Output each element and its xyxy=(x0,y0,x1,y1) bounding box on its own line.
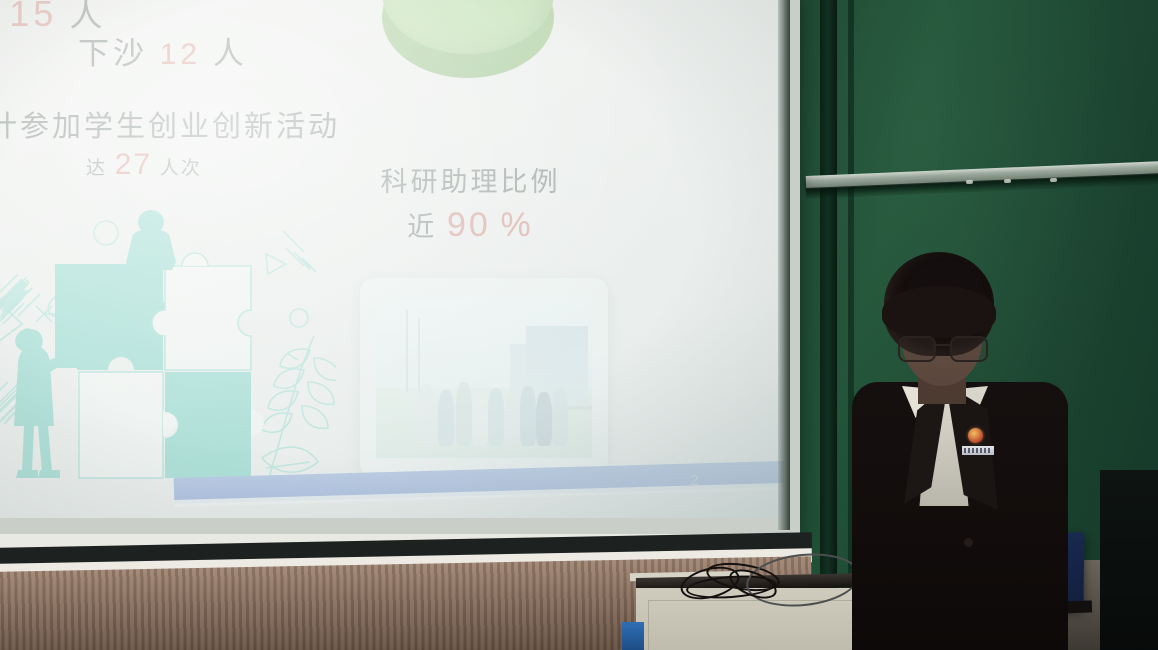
slide-line-3: 累计参加学生创业创新活动 xyxy=(0,103,340,145)
photo-person xyxy=(418,384,435,446)
pie-caption-percent: 90 xyxy=(447,206,491,244)
blue-object-on-shelf xyxy=(622,622,644,650)
chalk-piece xyxy=(966,180,973,184)
photo-card xyxy=(360,278,608,478)
photo-person xyxy=(438,390,454,446)
name-tag xyxy=(962,446,994,455)
slide-page-number: 2 xyxy=(690,472,698,489)
pie-caption-prefix: 近 xyxy=(407,212,437,242)
foreground-dark-edge xyxy=(1100,470,1158,650)
pie-caption-value-line: 近 90 % xyxy=(338,205,603,245)
photo-person xyxy=(488,388,504,446)
glasses-lens-right xyxy=(950,336,988,362)
slide-line-1-number: 15 xyxy=(9,0,57,34)
chalk-piece xyxy=(1004,179,1011,183)
screen-right-edge xyxy=(778,0,790,530)
pie-chart-caption: 科研助理比例 近 90 % xyxy=(338,160,603,245)
cable-bundle xyxy=(676,564,866,608)
group-photo xyxy=(376,300,592,458)
glasses-bridge xyxy=(932,344,950,346)
pie-caption-percent-unit: % xyxy=(501,206,534,244)
hair-fringe xyxy=(882,286,996,338)
projection-screen-frame: 前 15 人 下沙 12 人 累计参加学生创业创新活动 达 27 人次 xyxy=(0,0,800,540)
slide-line-2: 下沙 12 人 xyxy=(78,28,248,73)
slide-line-4-unit: 人次 xyxy=(160,158,202,179)
slide-line-2-unit: 人 xyxy=(213,36,248,71)
slide-line-4-prefix: 达 xyxy=(86,158,107,179)
presenter xyxy=(846,252,1076,650)
slide-line-2-prefix: 下沙 xyxy=(78,36,148,71)
glasses-icon xyxy=(898,336,990,358)
photo-person xyxy=(504,396,520,446)
pie-chart xyxy=(374,0,562,130)
puzzle-illustration xyxy=(0,206,336,496)
slide-line-4-number: 27 xyxy=(115,148,152,181)
photo-pole xyxy=(418,318,420,392)
photo-person xyxy=(472,394,488,446)
photo-person xyxy=(520,386,536,446)
slide-line-2-number: 12 xyxy=(160,38,201,71)
chalkboard-frame-seam xyxy=(820,0,837,588)
photo-person xyxy=(456,382,472,446)
chalk-piece xyxy=(1050,178,1057,182)
photo-person xyxy=(536,392,552,446)
classroom-presentation-scene: 前 15 人 下沙 12 人 累计参加学生创业创新活动 达 27 人次 xyxy=(0,0,1158,650)
photo-person xyxy=(552,388,568,446)
projection-screen: 前 15 人 下沙 12 人 累计参加学生创业创新活动 达 27 人次 xyxy=(0,0,784,518)
glasses-lens-left xyxy=(898,336,936,362)
lapel-badge-icon xyxy=(968,428,983,443)
photo-pole xyxy=(406,310,408,392)
slide-line-4: 达 27 人次 xyxy=(86,148,202,182)
pie-caption-title: 科研助理比例 xyxy=(338,160,603,199)
jacket-button xyxy=(964,538,973,547)
